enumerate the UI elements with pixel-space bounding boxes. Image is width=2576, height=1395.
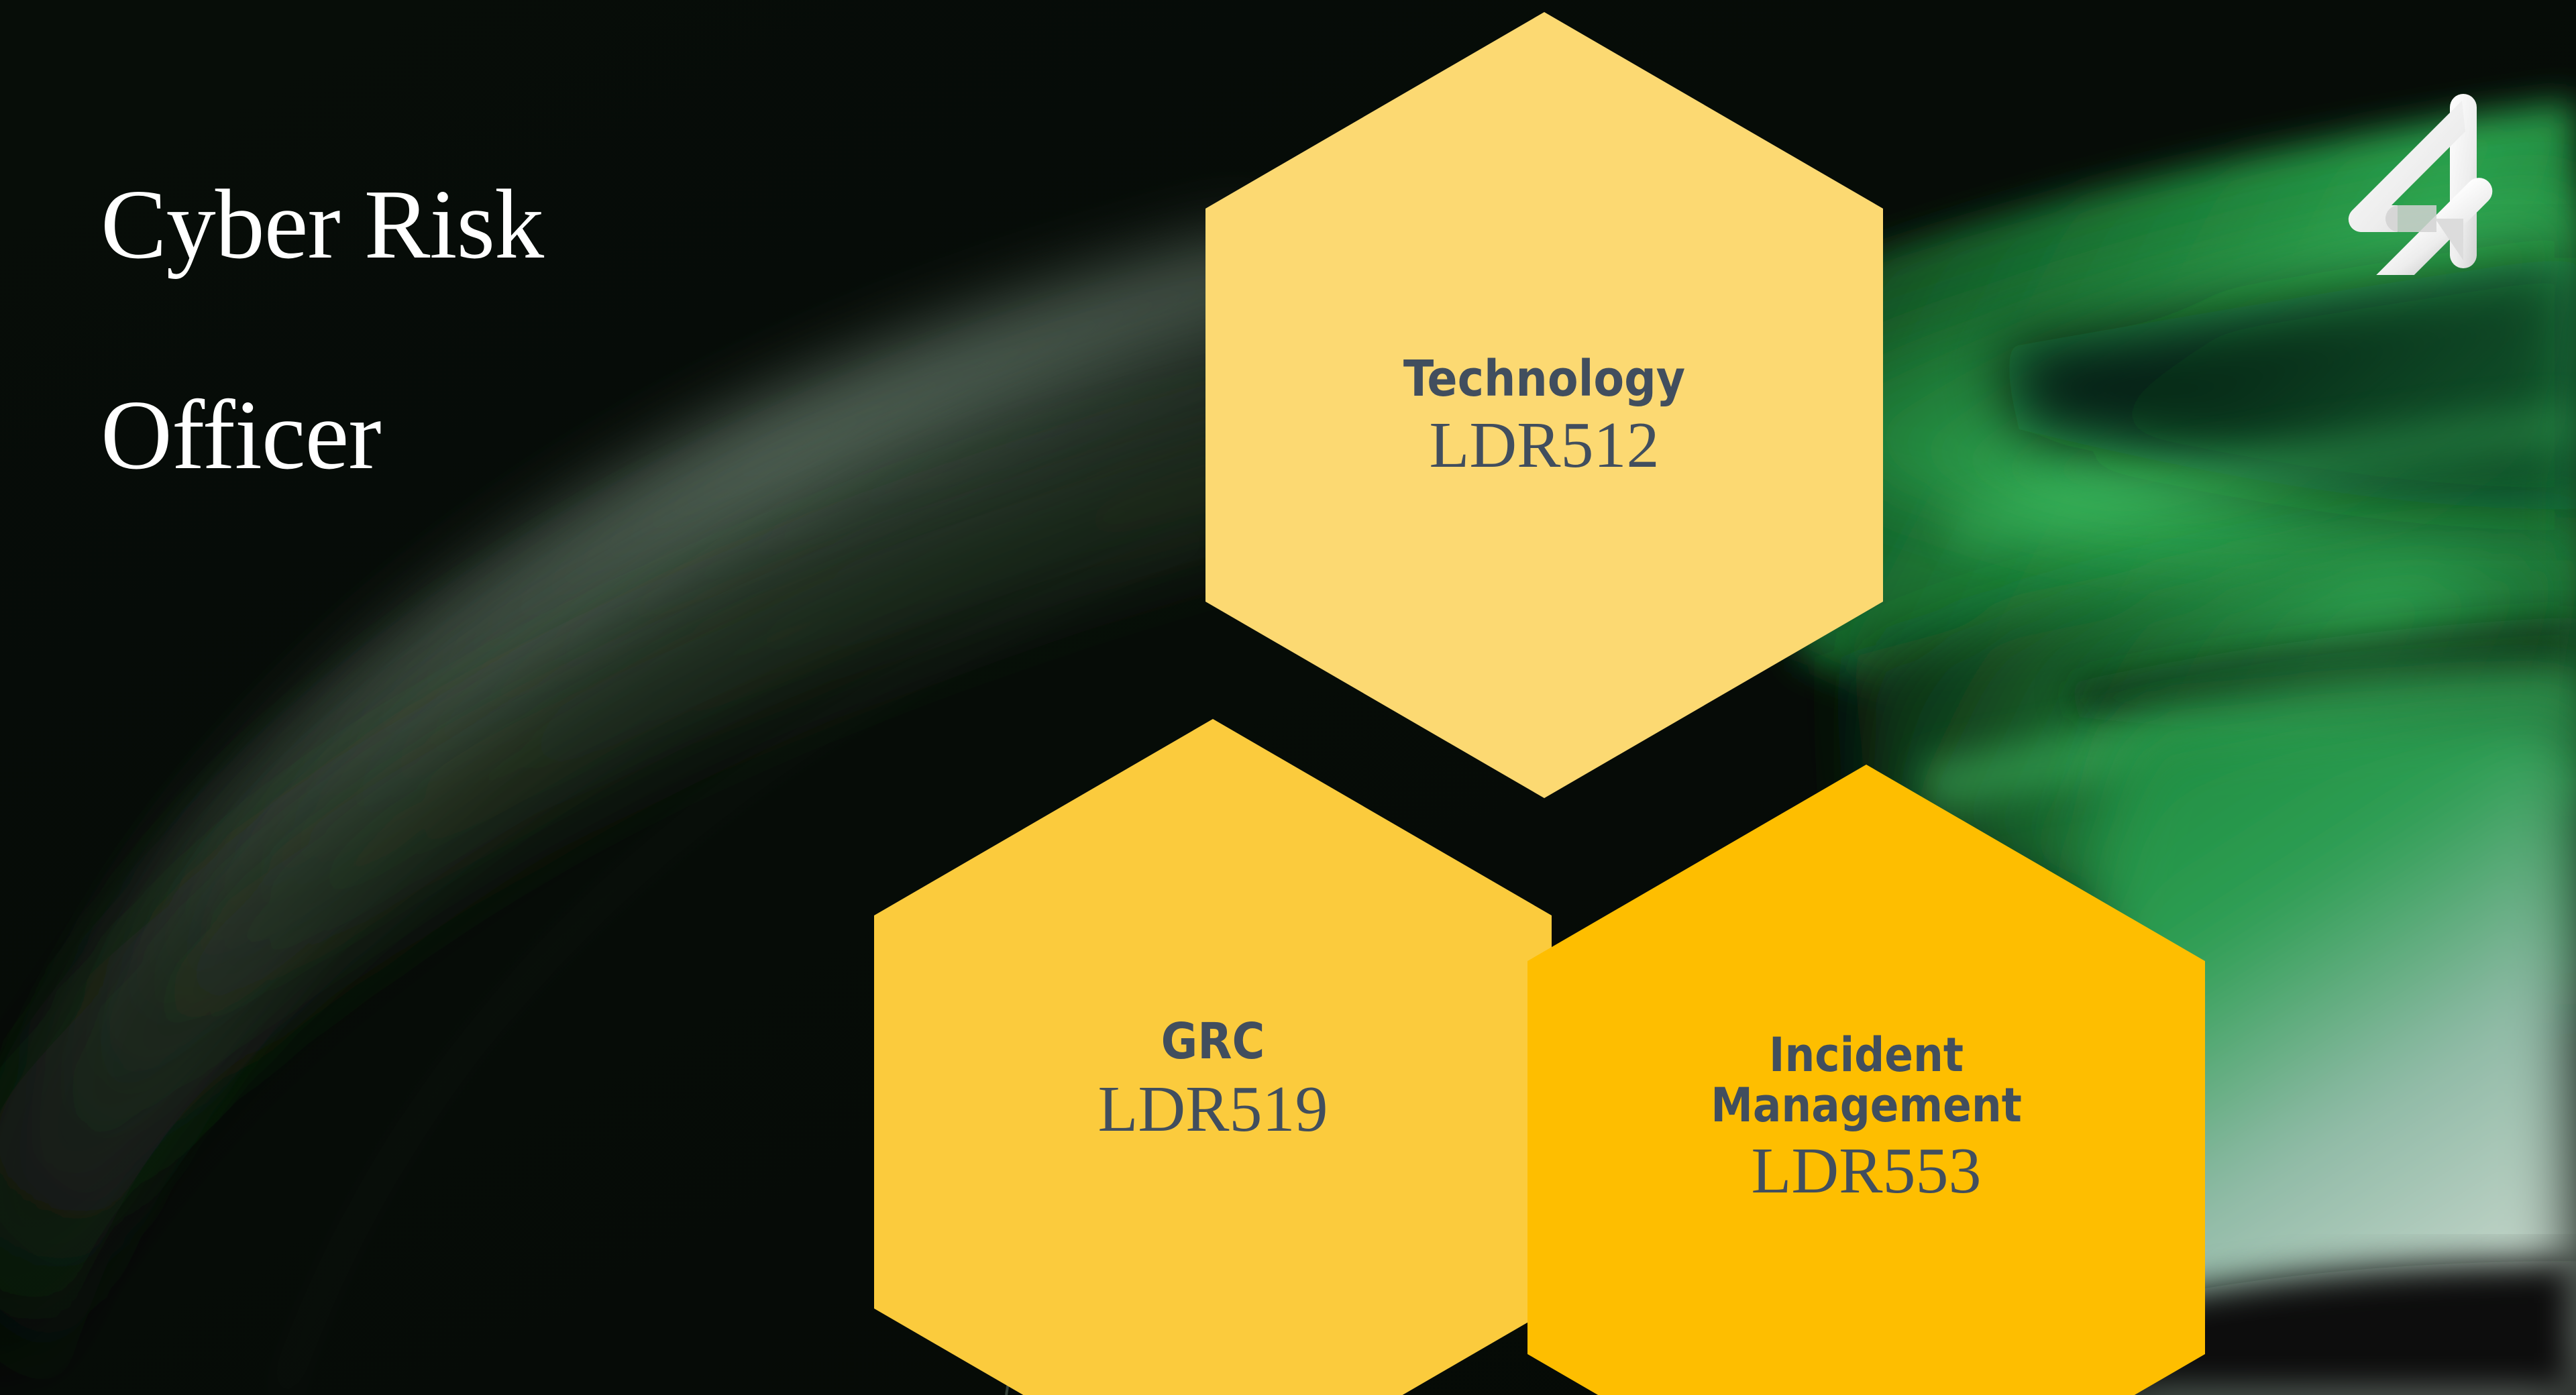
hexagon-incident-management-content: Incident Management LDR553: [1711, 1030, 2022, 1205]
page-title-line-2: Officer: [101, 383, 1107, 488]
hexagon-technology-label: Technology: [1403, 353, 1685, 405]
hexagon-grc-label: GRC: [1098, 1015, 1328, 1068]
page-title-line-1: Cyber Risk: [101, 172, 1107, 278]
sans-institute-arrow-logo: [2334, 87, 2495, 275]
slide-canvas: Cyber Risk Officer Technology LDR512 GRC…: [0, 0, 2576, 1395]
page-title: Cyber Risk Officer: [101, 67, 1107, 593]
hexagon-grc-code: LDR519: [1098, 1075, 1328, 1144]
hexagon-technology-code: LDR512: [1403, 411, 1685, 480]
hexagon-incident-management-code: LDR553: [1711, 1137, 2022, 1206]
hexagon-technology-content: Technology LDR512: [1403, 353, 1685, 480]
hexagon-incident-management-label: Incident Management: [1711, 1030, 2022, 1129]
hexagon-grc-content: GRC LDR519: [1098, 1015, 1328, 1143]
